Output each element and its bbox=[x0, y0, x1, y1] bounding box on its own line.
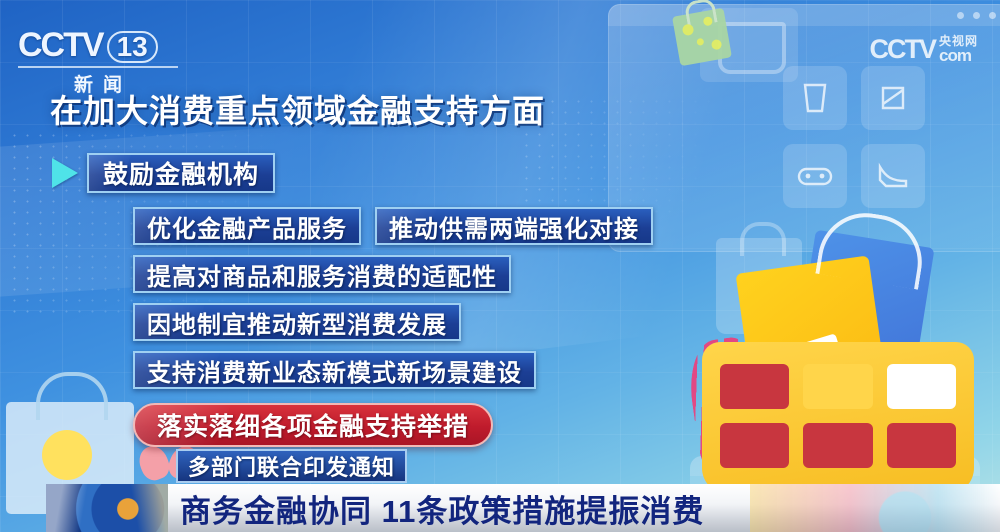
lower-third-kicker: 多部门联合印发通知 bbox=[176, 449, 407, 483]
basket-slots bbox=[720, 364, 956, 468]
list-item: 支持消费新业态新模式新场景建设 bbox=[133, 351, 536, 389]
bullet-row: 优化金融产品服务 推动供需两端强化对接 bbox=[133, 207, 653, 245]
highlight-item-label: 落实落细各项金融支持举措 bbox=[157, 407, 469, 443]
lower-third-banner: 商务金融协同 11条政策措施提振消费 bbox=[0, 484, 1000, 532]
list-item-label: 支持消费新业态新模式新场景建设 bbox=[147, 353, 522, 388]
list-item-label: 因地制宜推动新型消费发展 bbox=[147, 305, 447, 340]
watermark: CCTV 央视网 com bbox=[869, 34, 978, 65]
watermark-suffix: 央视网 com bbox=[939, 35, 978, 65]
green-shopping-bag-graphic bbox=[672, 8, 732, 66]
lower-third-kicker-label: 多部门联合印发通知 bbox=[188, 450, 395, 482]
product-tile-grid bbox=[783, 66, 925, 208]
section-heading: 鼓励金融机构 bbox=[52, 153, 275, 193]
lower-third-title: 商务金融协同 11条政策措施提振消费 bbox=[168, 486, 704, 531]
globe-graphic bbox=[46, 484, 178, 532]
list-item: 提高对商品和服务消费的适配性 bbox=[133, 255, 511, 293]
list-item: 优化金融产品服务 bbox=[133, 207, 361, 245]
watermark-domain: com bbox=[939, 47, 978, 64]
highlight-item: 落实落细各项金融支持举措 bbox=[133, 403, 493, 447]
channel-logo-text: CCTV bbox=[18, 26, 103, 64]
clothing-icon bbox=[861, 66, 925, 130]
browser-title-bar bbox=[608, 4, 1000, 26]
shopping-basket-graphic bbox=[702, 342, 974, 494]
channel-logo: CCTV13 新闻 bbox=[18, 28, 178, 90]
bullet-list: 优化金融产品服务 推动供需两端强化对接 提高对商品和服务消费的适配性 因地制宜推… bbox=[133, 207, 653, 447]
list-item: 因地制宜推动新型消费发展 bbox=[133, 303, 461, 341]
list-item-label: 提高对商品和服务消费的适配性 bbox=[147, 257, 497, 292]
gamepad-icon bbox=[783, 144, 847, 208]
list-item-label: 推动供需两端强化对接 bbox=[389, 209, 639, 244]
play-triangle-icon bbox=[52, 158, 78, 188]
list-item: 推动供需两端强化对接 bbox=[375, 207, 653, 245]
page-title: 在加大消费重点领域金融支持方面 bbox=[50, 86, 545, 132]
watermark-brand: CCTV bbox=[869, 34, 935, 65]
channel-logo-mark: CCTV13 bbox=[18, 28, 178, 63]
high-heel-icon bbox=[861, 144, 925, 208]
list-item-label: 优化金融产品服务 bbox=[147, 209, 347, 244]
section-label: 鼓励金融机构 bbox=[103, 155, 259, 191]
section-label-chip: 鼓励金融机构 bbox=[87, 153, 275, 193]
shopping-illustration bbox=[606, 218, 1000, 488]
channel-logo-number: 13 bbox=[107, 31, 158, 63]
broadcast-screen: CCTV13 新闻 CCTV 央视网 com 在加大消费重点领域金融支持方面 鼓… bbox=[0, 0, 1000, 532]
gift-graphic bbox=[750, 484, 1000, 532]
